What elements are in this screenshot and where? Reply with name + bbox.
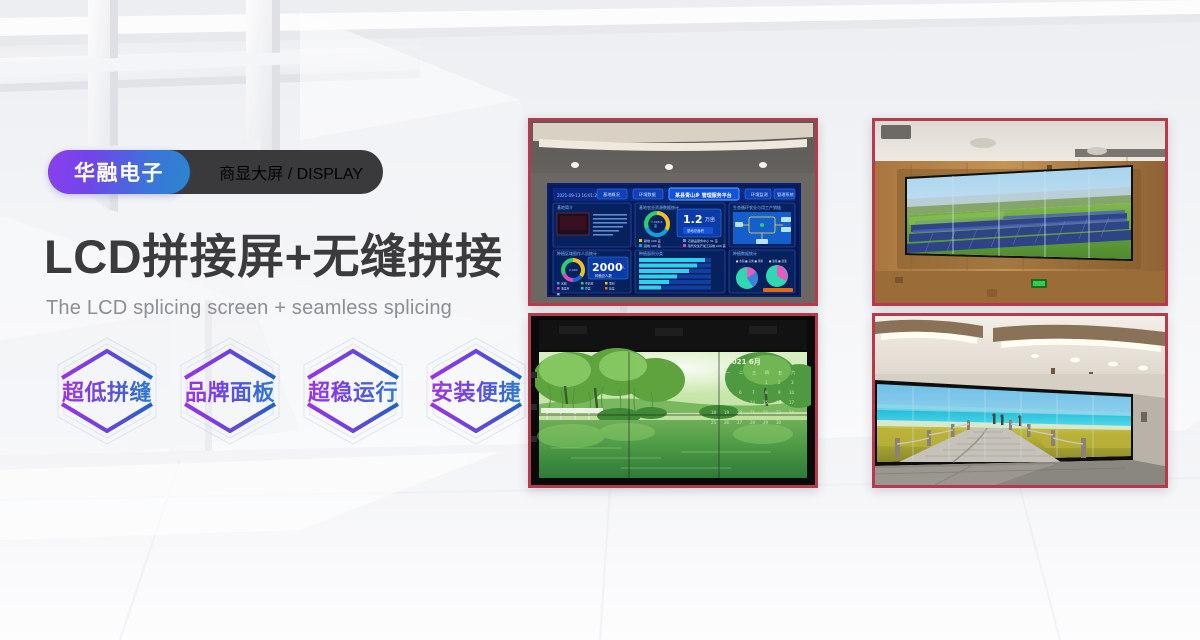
product-photo-beach-wall[interactable] bbox=[872, 313, 1168, 488]
svg-text:19: 19 bbox=[724, 410, 730, 415]
badge-row: 商显大屏 / DISPLAY 华融电子 bbox=[48, 150, 190, 194]
svg-text:基地总面积: 基地总面积 bbox=[687, 228, 705, 233]
lake-video-wall-illustration: 2021 6月 日一二 三四五六 123 456 78910 111213 14… bbox=[531, 316, 815, 485]
svg-text:种植数据统计: 种植数据统计 bbox=[733, 250, 757, 256]
svg-text:管理系统: 管理系统 bbox=[777, 191, 794, 198]
banner-copy-block: 商显大屏 / DISPLAY 华融电子 LCD拼接屏+无缝拼接 The LCD … bbox=[0, 0, 530, 640]
photo-image bbox=[875, 316, 1165, 485]
svg-text:11: 11 bbox=[711, 400, 717, 405]
feature-item: 品牌面板 bbox=[171, 332, 289, 450]
svg-text:种植区域图作人员统计: 种植区域图作人员统计 bbox=[557, 250, 597, 256]
feature-label: 超低拼缝 bbox=[62, 375, 152, 407]
svg-text:种植面积分类: 种植面积分类 bbox=[639, 250, 663, 256]
svg-text:■: ■ bbox=[557, 292, 560, 296]
svg-text:一: 一 bbox=[726, 370, 730, 375]
svg-text:基地概况: 基地概况 bbox=[603, 191, 621, 198]
svg-text:人: 人 bbox=[621, 265, 625, 270]
svg-text:13: 13 bbox=[737, 400, 743, 405]
svg-text:30: 30 bbox=[776, 420, 782, 425]
svg-text:二: 二 bbox=[739, 370, 743, 375]
subheadline: The LCD splicing screen + seamless splic… bbox=[46, 297, 452, 320]
svg-text:蔬菜: 蔬菜 bbox=[609, 287, 615, 291]
svg-text:豆类: 豆类 bbox=[585, 287, 591, 291]
svg-text:2021-09-13 16:01:27: 2021-09-13 16:01:27 bbox=[557, 193, 600, 198]
svg-text:29: 29 bbox=[763, 420, 769, 425]
feature-item: 超低拼缝 bbox=[48, 332, 166, 450]
svg-text:农副品服务中心 31 亩: 农副品服务中心 31 亩 bbox=[688, 238, 718, 243]
svg-text:2021 6月: 2021 6月 bbox=[727, 358, 761, 366]
svg-text:环境监测: 环境监测 bbox=[751, 191, 768, 198]
svg-text:五: 五 bbox=[778, 370, 782, 375]
svg-text:24: 24 bbox=[789, 410, 795, 415]
svg-text:2,000: 2,000 bbox=[569, 268, 578, 272]
svg-text:生态循环农业与用工产销链: 生态循环农业与用工产销链 bbox=[733, 204, 781, 210]
svg-text:基地简介: 基地简介 bbox=[557, 204, 573, 210]
svg-text:27: 27 bbox=[737, 420, 743, 425]
svg-text:中药材: 中药材 bbox=[585, 282, 594, 286]
svg-text:17: 17 bbox=[789, 400, 795, 405]
svg-text:耕地 100 亩: 耕地 100 亩 bbox=[644, 238, 661, 243]
svg-text:25: 25 bbox=[711, 420, 717, 425]
category-badge-label: 商显大屏 / DISPLAY bbox=[219, 160, 363, 184]
svg-text:三: 三 bbox=[752, 370, 756, 375]
feature-label: 安装便捷 bbox=[431, 375, 521, 407]
svg-text:亩: 亩 bbox=[654, 223, 657, 228]
svg-text:2000: 2000 bbox=[592, 261, 623, 274]
brand-badge-label: 华融电子 bbox=[74, 157, 164, 187]
svg-text:基地农业资源数据统计: 基地农业资源数据统计 bbox=[639, 204, 679, 210]
svg-text:21: 21 bbox=[750, 410, 756, 415]
feature-label: 超稳运行 bbox=[308, 375, 398, 407]
svg-text:16: 16 bbox=[776, 400, 782, 405]
feature-item: 超稳运行 bbox=[294, 332, 412, 450]
product-photo-solar-wall[interactable] bbox=[872, 118, 1168, 306]
svg-text:28: 28 bbox=[750, 420, 756, 425]
svg-text:■ 油菜 ■ 蔬菜: ■ 油菜 ■ 蔬菜 bbox=[769, 259, 787, 263]
svg-text:油菜籽: 油菜籽 bbox=[561, 287, 570, 291]
solar-video-wall-illustration bbox=[875, 121, 1165, 303]
svg-text:■ 水稻 ■ 豆类 ■ 果树: ■ 水稻 ■ 豆类 ■ 果树 bbox=[736, 259, 763, 263]
svg-text:26: 26 bbox=[724, 420, 730, 425]
svg-text:1.2: 1.2 bbox=[683, 213, 703, 226]
photo-image bbox=[875, 121, 1165, 303]
svg-text:23: 23 bbox=[776, 410, 782, 415]
svg-text:水稻: 水稻 bbox=[561, 282, 567, 286]
svg-text:15: 15 bbox=[763, 400, 769, 405]
svg-text:12: 12 bbox=[724, 400, 730, 405]
feature-item: 安装便捷 bbox=[417, 332, 535, 450]
dashboard-room-illustration: 2021-09-13 16:01:27 基地概况 环境数据 环境监测 管理系统 … bbox=[531, 121, 815, 303]
photo-image: 2021 6月 日一二 三四五六 123 456 78910 111213 14… bbox=[531, 316, 815, 485]
feature-list: 超低拼缝 品牌面板 bbox=[48, 332, 535, 450]
headline: LCD拼接屏+无缝拼接 bbox=[44, 231, 503, 283]
svg-text:六: 六 bbox=[791, 369, 795, 376]
svg-text:四: 四 bbox=[765, 370, 769, 375]
svg-text:22: 22 bbox=[763, 410, 769, 415]
product-photo-dashboard[interactable]: 2021-09-13 16:01:27 基地概况 环境数据 环境监测 管理系统 … bbox=[528, 118, 818, 306]
svg-text:环境数据: 环境数据 bbox=[639, 191, 656, 198]
beach-video-wall-illustration bbox=[875, 316, 1165, 485]
product-photo-lake-wall[interactable]: 2021 6月 日一二 三四五六 123 456 78910 111213 14… bbox=[528, 313, 818, 488]
brand-badge: 华融电子 bbox=[48, 150, 190, 194]
svg-text:种植总人数: 种植总人数 bbox=[595, 273, 613, 278]
svg-text:园地 100 亩: 园地 100 亩 bbox=[644, 243, 661, 248]
svg-text:某县青山乡 管理服务平台: 某县青山乡 管理服务平台 bbox=[674, 192, 732, 199]
svg-text:18: 18 bbox=[711, 410, 717, 415]
svg-text:14: 14 bbox=[750, 400, 756, 405]
svg-text:现代化生产加工基地 100 亩: 现代化生产加工基地 100 亩 bbox=[688, 243, 726, 248]
svg-text:万亩: 万亩 bbox=[705, 216, 715, 223]
photo-image: 2021-09-13 16:01:27 基地概况 环境数据 环境监测 管理系统 … bbox=[531, 121, 815, 303]
svg-text:10: 10 bbox=[789, 390, 795, 395]
feature-label: 品牌面板 bbox=[185, 375, 275, 407]
svg-text:果树: 果树 bbox=[609, 282, 615, 286]
svg-text:20: 20 bbox=[737, 410, 743, 415]
